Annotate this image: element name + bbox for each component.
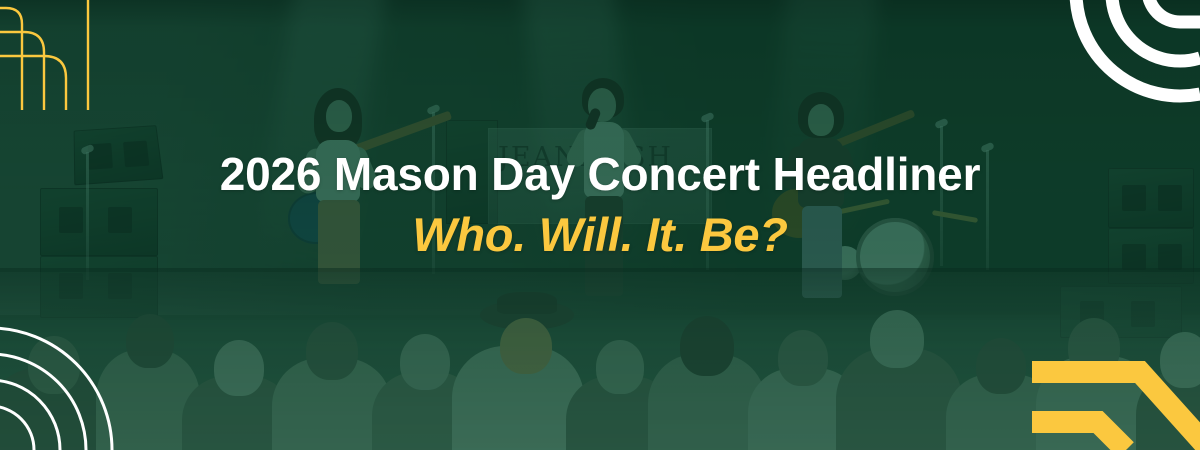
page-title: 2026 Mason Day Concert Headliner [0,150,1200,200]
banner-subheadline: Who. Will. It. Be? [0,210,1200,261]
banner-text-block: 2026 Mason Day Concert Headliner Who. Wi… [0,150,1200,260]
concert-announcement-banner: JEANNESH [0,0,1200,450]
